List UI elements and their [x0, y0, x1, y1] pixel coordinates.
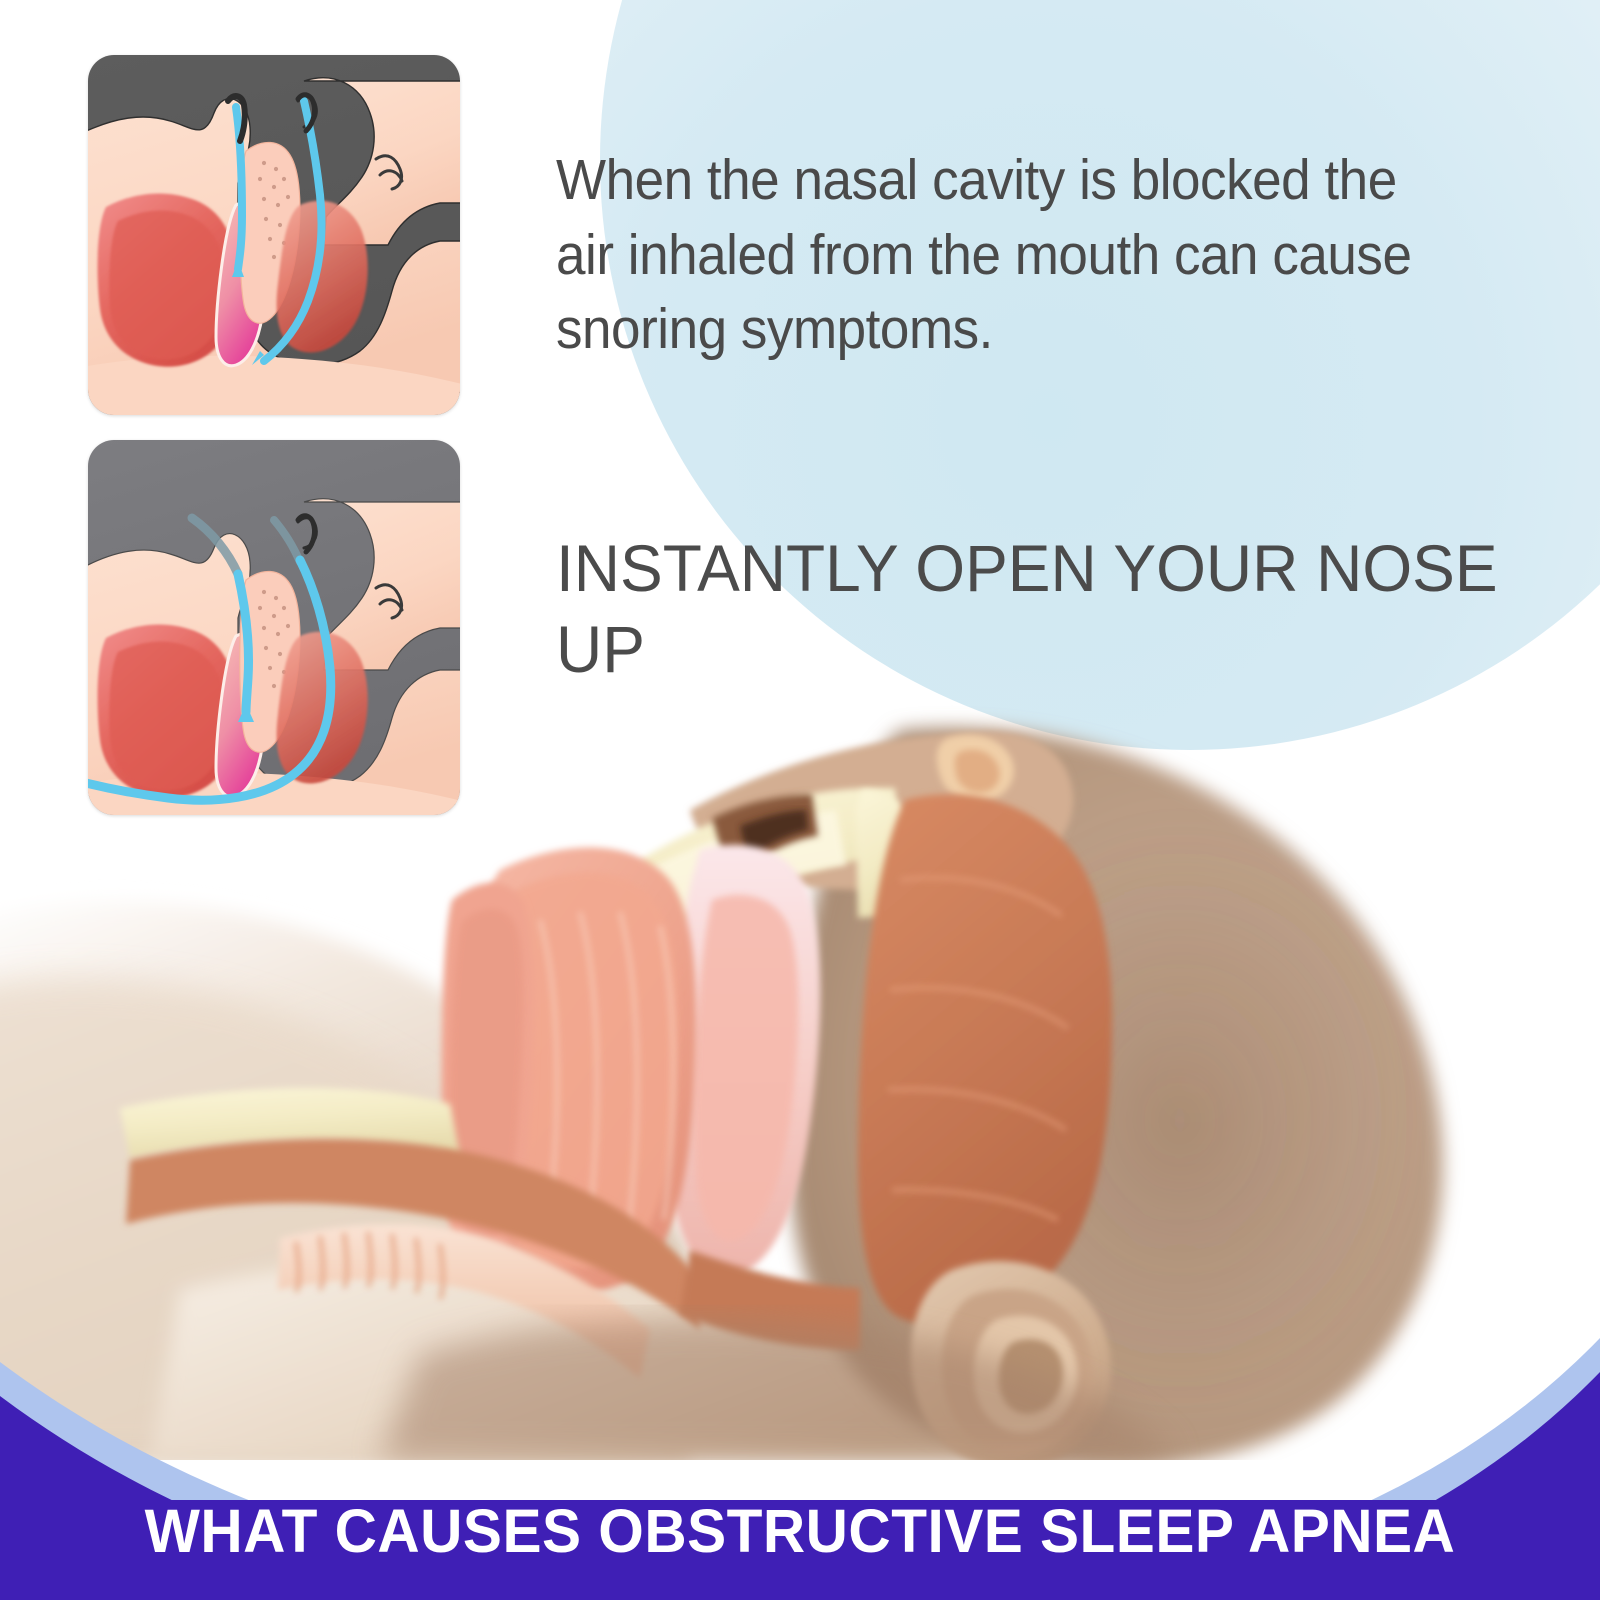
open-nasal-airway-diagram [88, 440, 460, 815]
infographic-root: When the nasal cavity is blocked the air… [0, 0, 1600, 1600]
blocked-nasal-airway-diagram [88, 55, 460, 415]
bottom-banner: WHAT CAUSES OBSTRUCTIVE SLEEP APNEA [0, 1270, 1600, 1600]
banner-title: WHAT CAUSES OBSTRUCTIVE SLEEP APNEA [32, 1496, 1568, 1566]
page-title: INSTANTLY OPEN YOUR NOSE UP [556, 528, 1526, 689]
description-paragraph: When the nasal cavity is blocked the air… [556, 143, 1430, 367]
